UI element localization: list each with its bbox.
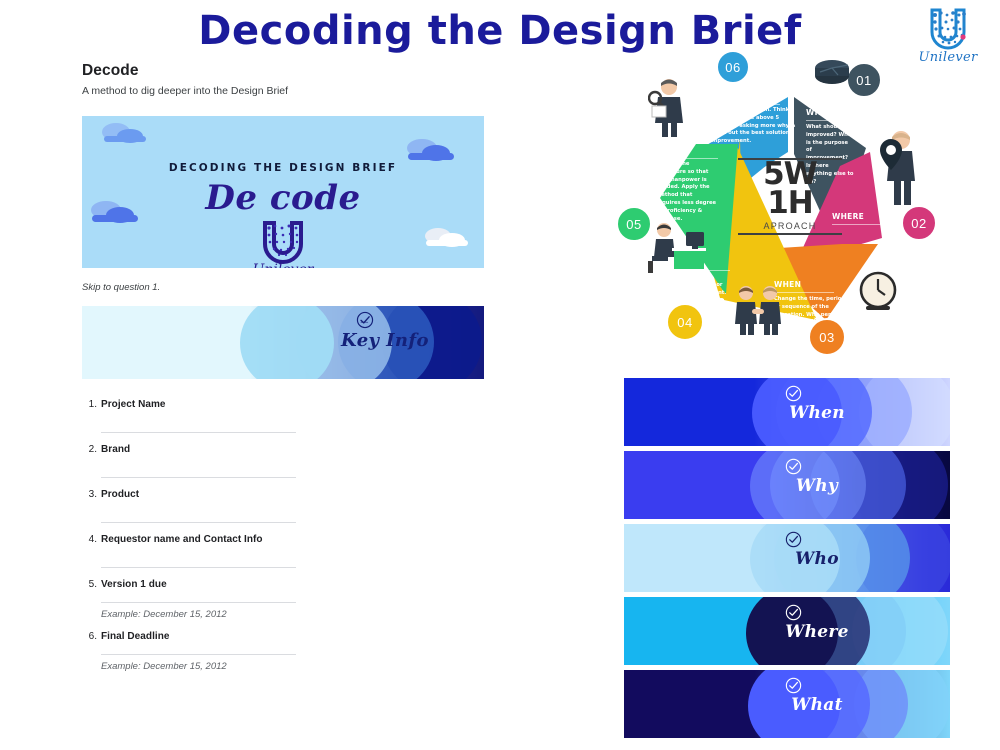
answer-input[interactable] [101, 432, 296, 433]
key-info-label: Key Info [330, 330, 440, 351]
question-label: Version 1 due [101, 579, 167, 590]
question-item: 4. Requestor name and Contact Info [82, 534, 484, 568]
unilever-u-logo-icon [257, 220, 309, 264]
clock-icon [858, 270, 898, 312]
unilever-u-logo-icon [906, 6, 990, 52]
check-circle-icon [785, 531, 802, 548]
segment-badge-03: 03 [808, 318, 846, 356]
question-number: 4. [82, 534, 97, 545]
decor-circle [240, 306, 334, 379]
page-root: Decoding the Design Brief Unilever Decod… [0, 0, 1000, 750]
question-number: 2. [82, 444, 97, 455]
segment-badge-06: 06 [716, 50, 750, 84]
hero-kicker: DECODING THE DESIGN BRIEF [82, 162, 484, 174]
desk-worker-icon [642, 220, 710, 276]
diagram-column: Why Doubt everything again. Think over &… [620, 48, 960, 366]
center-caption: APROACH [738, 221, 842, 231]
5w1h-hexagon-diagram: Why Doubt everything again. Think over &… [620, 48, 960, 366]
answer-input[interactable] [101, 522, 296, 523]
segment-title-why: Why [700, 92, 719, 101]
question-item: 5. Version 1 due Example: December 15, 2… [82, 579, 484, 620]
question-hint: Example: December 15, 2012 [101, 661, 484, 672]
question-item: 3. Product [82, 489, 484, 523]
question-number: 6. [82, 631, 97, 642]
segment-body-how: Change the procedure so that less manpow… [656, 161, 718, 223]
decode-hero-banner: DECODING THE DESIGN BRIEF De code Unilev… [82, 116, 484, 268]
w-card-where[interactable]: Where [624, 597, 950, 665]
answer-input[interactable] [101, 602, 296, 603]
cloud-icon [96, 122, 154, 144]
w-card-who[interactable]: Who [624, 524, 950, 592]
w-card-label: Who [762, 549, 872, 569]
check-circle-icon [356, 311, 374, 329]
cloud-icon [416, 226, 474, 250]
form-column: Decode A method to dig deeper into the D… [82, 62, 484, 683]
segment-badge-04: 04 [666, 303, 704, 341]
w-card-label: Where [762, 622, 872, 642]
segment-title-how: How [656, 146, 675, 155]
check-circle-icon [785, 604, 802, 621]
answer-input[interactable] [101, 477, 296, 478]
w-card-list: When Why Who [624, 378, 950, 743]
question-label: Brand [101, 444, 130, 455]
hero-script-title: De code [82, 178, 484, 218]
check-circle-icon [785, 385, 802, 402]
w-card-label: Why [762, 476, 872, 496]
key-info-banner: Key Info [82, 306, 484, 379]
segment-body-why: Doubt everything again. Think over & dis… [700, 107, 796, 146]
cloud-icon [396, 138, 458, 164]
question-label: Project Name [101, 399, 166, 410]
segment-badge-02: 02 [901, 205, 937, 241]
w-card-label: When [762, 403, 872, 423]
check-circle-icon [785, 677, 802, 694]
w-card-label: What [762, 695, 872, 715]
question-number: 5. [82, 579, 97, 590]
diagram-center-label: 5W 1H APROACH [738, 158, 842, 235]
magnifier-person-icon [648, 76, 690, 138]
question-item: 2. Brand [82, 444, 484, 478]
pie-chart-icon [812, 54, 852, 88]
check-circle-icon [785, 458, 802, 475]
question-list: 1. Project Name 2. Brand 3. Product [82, 399, 484, 672]
handshake-icon [730, 284, 786, 336]
question-label: Final Deadline [101, 631, 170, 642]
question-number: 3. [82, 489, 97, 500]
skip-to-question-note: Skip to question 1. [82, 282, 484, 293]
question-item: 1. Project Name [82, 399, 484, 433]
answer-input[interactable] [101, 567, 296, 568]
w-card-when[interactable]: When [624, 378, 950, 446]
question-label: Requestor name and Contact Info [101, 534, 263, 545]
segment-title-what: WHAT [806, 108, 832, 117]
question-label: Product [101, 489, 139, 500]
center-line-2: 1H [738, 189, 842, 219]
question-number: 1. [82, 399, 97, 410]
hero-wordmark: Unilever [82, 262, 484, 268]
map-pin-icon [868, 128, 916, 208]
w-card-why[interactable]: Why [624, 451, 950, 519]
form-subtitle: A method to dig deeper into the Design B… [82, 85, 484, 97]
answer-input[interactable] [101, 654, 296, 655]
question-item: 6. Final Deadline Example: December 15, … [82, 631, 484, 672]
question-hint: Example: December 15, 2012 [101, 609, 484, 620]
form-heading: Decode [82, 62, 484, 80]
w-card-what[interactable]: What [624, 670, 950, 738]
